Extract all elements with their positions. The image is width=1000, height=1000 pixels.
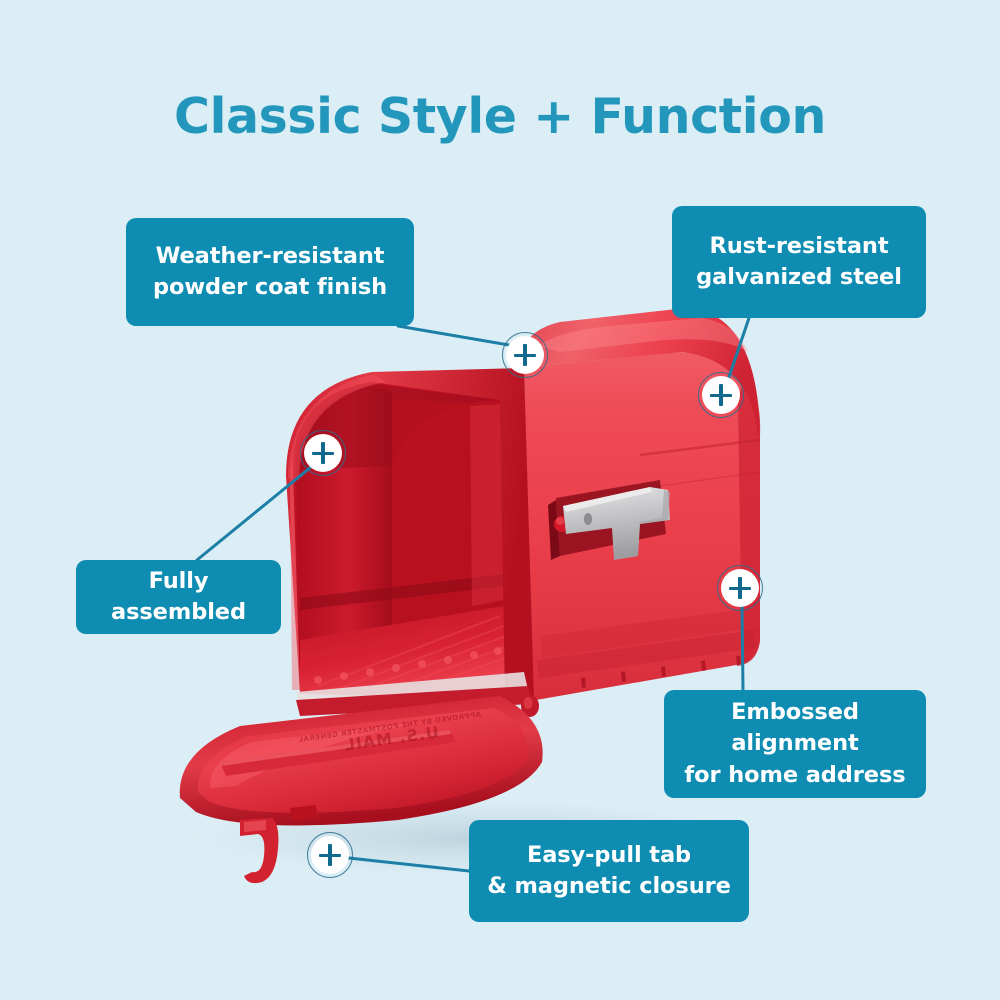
- hotspot-marker-rust-resistant[interactable]: [698, 372, 744, 418]
- hotspot-marker-fully-assembled[interactable]: [300, 430, 346, 476]
- plus-icon: [523, 344, 527, 366]
- plus-icon: [719, 384, 723, 406]
- callout-label: Easy-pull tab & magnetic closure: [487, 840, 731, 902]
- hotspot-marker-embossed-alignment[interactable]: [717, 565, 763, 611]
- hotspot-marker-weather-resistant[interactable]: [502, 332, 548, 378]
- callout-label: Weather-resistant powder coat finish: [153, 241, 387, 303]
- plus-icon: [328, 844, 332, 866]
- plus-icon: [321, 442, 325, 464]
- callout-label: Rust-resistant galvanized steel: [696, 231, 902, 293]
- callout-rust-resistant[interactable]: Rust-resistant galvanized steel: [672, 206, 926, 318]
- callout-label: Embossed alignment for home address: [680, 697, 910, 790]
- callout-label: Fully assembled: [92, 566, 265, 628]
- hotspot-marker-easy-pull-tab[interactable]: [307, 832, 353, 878]
- callout-fully-assembled[interactable]: Fully assembled: [76, 560, 281, 634]
- callout-weather-resistant[interactable]: Weather-resistant powder coat finish: [126, 218, 414, 326]
- callout-embossed-alignment[interactable]: Embossed alignment for home address: [664, 690, 926, 798]
- plus-icon: [738, 577, 742, 599]
- callout-easy-pull-tab[interactable]: Easy-pull tab & magnetic closure: [469, 820, 749, 922]
- latch-handle-hole: [584, 513, 592, 525]
- infographic-canvas: Classic Style + Function: [0, 0, 1000, 1000]
